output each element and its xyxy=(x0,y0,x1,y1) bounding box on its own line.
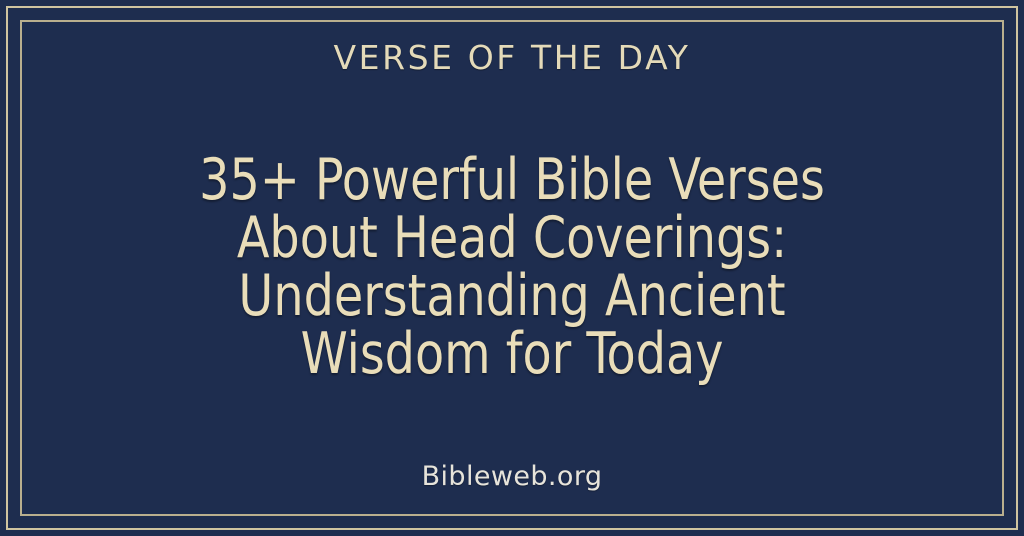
site-attribution: Bibleweb.org xyxy=(422,461,603,493)
verse-of-the-day-poster: VERSE OF THE DAY 35+ Powerful Bible Vers… xyxy=(0,0,1024,536)
poster-content: VERSE OF THE DAY 35+ Powerful Bible Vers… xyxy=(24,24,1000,512)
page-title: 35+ Powerful Bible Verses About Head Cov… xyxy=(145,151,880,383)
title-block: 35+ Powerful Bible Verses About Head Cov… xyxy=(24,72,1000,461)
